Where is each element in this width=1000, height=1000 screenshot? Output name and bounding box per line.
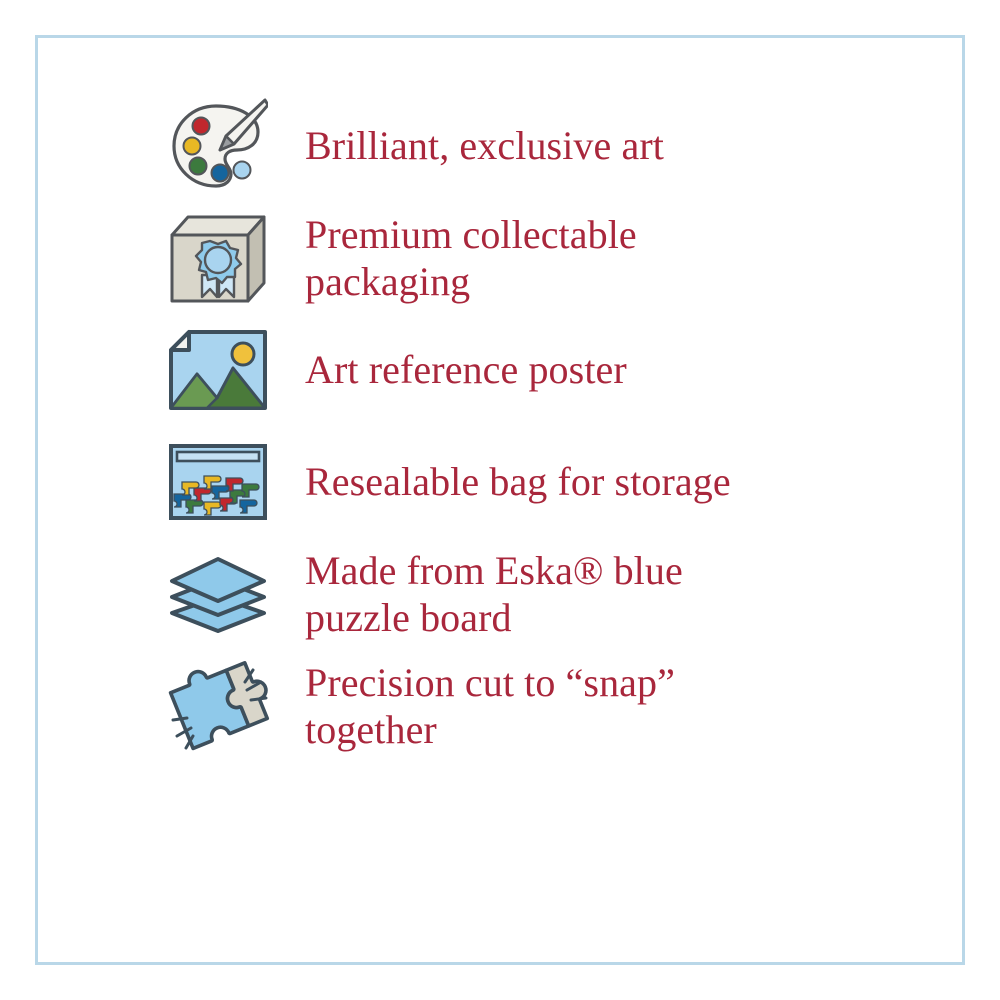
feature-label: Precision cut to “snap” together	[305, 659, 675, 753]
poster-image-icon	[163, 318, 273, 422]
feature-row-resealable-bag: Resealable bag for storage	[38, 426, 962, 538]
snap-puzzle-pieces-icon	[163, 654, 273, 758]
feature-label: Art reference poster	[305, 346, 627, 393]
feature-label: Resealable bag for storage	[305, 458, 731, 505]
feature-card: Brilliant, exclusive art Premium collec	[35, 35, 965, 965]
feature-row-brilliant-exclusive-art: Brilliant, exclusive art	[38, 90, 962, 202]
feature-label: Brilliant, exclusive art	[305, 122, 664, 169]
layered-board-icon	[163, 542, 273, 646]
feature-label: Made from Eska® blue puzzle board	[305, 547, 683, 641]
resealable-bag-icon	[163, 430, 273, 534]
feature-list: Brilliant, exclusive art Premium collec	[38, 38, 962, 762]
award-box-icon	[163, 206, 273, 310]
paint-palette-icon	[163, 94, 273, 198]
feature-row-art-reference-poster: Art reference poster	[38, 314, 962, 426]
feature-row-eska-blue-puzzle-board: Made from Eska® blue puzzle board	[38, 538, 962, 650]
feature-highlights-page: Brilliant, exclusive art Premium collec	[0, 0, 1000, 1000]
feature-row-premium-collectable-packaging: Premium collectable packaging	[38, 202, 962, 314]
feature-label: Premium collectable packaging	[305, 211, 637, 305]
feature-row-precision-cut-snap: Precision cut to “snap” together	[38, 650, 962, 762]
